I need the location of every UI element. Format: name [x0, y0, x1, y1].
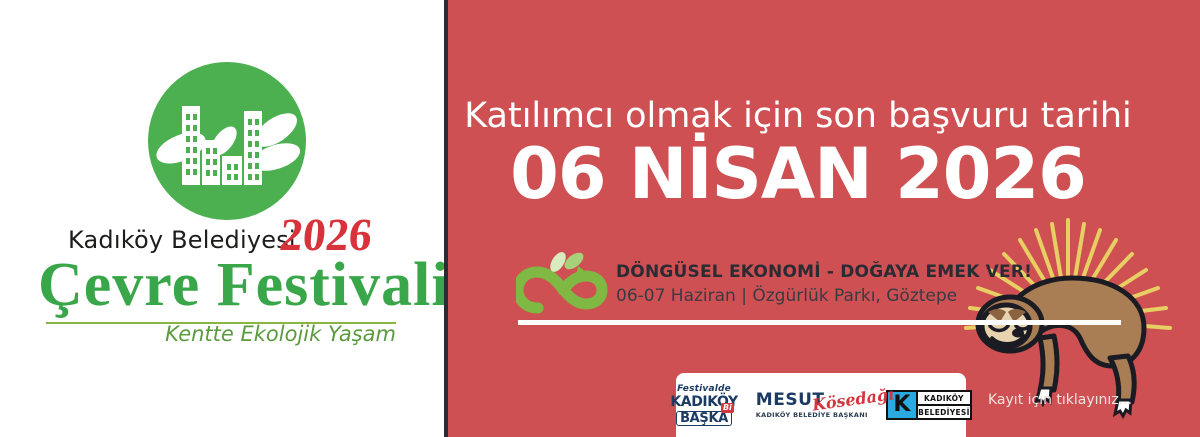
deadline-date: 06 NİSAN 2026 — [448, 136, 1148, 212]
event-info-block: DÖNGÜSEL EKONOMİ - DOĞAYA EMEK VER! 06-0… — [516, 250, 986, 322]
wordmark-title: Çevre Festivali — [38, 254, 450, 316]
deadline-label: Katılımcı olmak için son başvuru tarihi — [448, 96, 1148, 136]
municipality-logo: K KADIKÖY BELEDİYESİ — [886, 390, 972, 420]
event-info-underline — [518, 320, 1121, 325]
institutional-logo-bar: Festivalde KADIKÖY Bi BAŞKA MESUT Köseda… — [676, 373, 966, 437]
festivalde-line3: BAŞKA — [676, 411, 732, 426]
city-buildings-leaves-icon — [148, 62, 306, 220]
municipality-line1: KADIKÖY — [918, 392, 970, 406]
festival-wordmark: Kadıköy Belediyesi 2026 Çevre Festivali … — [0, 222, 444, 256]
wordmark-pretitle: Kadıköy Belediyesi — [68, 226, 296, 254]
festival-banner: Kadıköy Belediyesi 2026 Çevre Festivali … — [0, 0, 1200, 437]
mayor-logo: MESUT Kösedağı KADIKÖY BELEDİYE BAŞKANI — [756, 392, 868, 419]
infinity-arrow-leaf-icon — [516, 252, 608, 318]
festivalde-kadikoy-baska-logo: Festivalde KADIKÖY Bi BAŞKA — [670, 385, 737, 426]
municipality-logo-text: KADIKÖY BELEDİYESİ — [918, 392, 970, 418]
municipality-line2: BELEDİYESİ — [918, 406, 970, 418]
mayor-role: KADIKÖY BELEDİYE BAŞKANI — [756, 412, 868, 419]
festivalde-line1: Festivalde — [670, 385, 737, 394]
event-theme-title: DÖNGÜSEL EKONOMİ - DOĞAYA EMEK VER! — [616, 262, 1032, 282]
left-logo-panel: Kadıköy Belediyesi 2026 Çevre Festivali … — [0, 0, 444, 437]
circular-economy-mark — [516, 252, 608, 318]
event-date-venue: 06-07 Haziran | Özgürlük Parkı, Göztepe — [616, 286, 957, 306]
wordmark-subtitle: Kentte Ekolojik Yaşam — [0, 322, 444, 346]
festival-emblem — [148, 62, 306, 220]
registration-cta-link[interactable]: Kayıt için tıklayınız... — [988, 392, 1132, 408]
mayor-signature: Kösedağı — [811, 384, 895, 414]
festivalde-badge: Bi — [721, 403, 734, 413]
right-announcement-panel: Katılımcı olmak için son başvuru tarihi … — [448, 0, 1200, 437]
